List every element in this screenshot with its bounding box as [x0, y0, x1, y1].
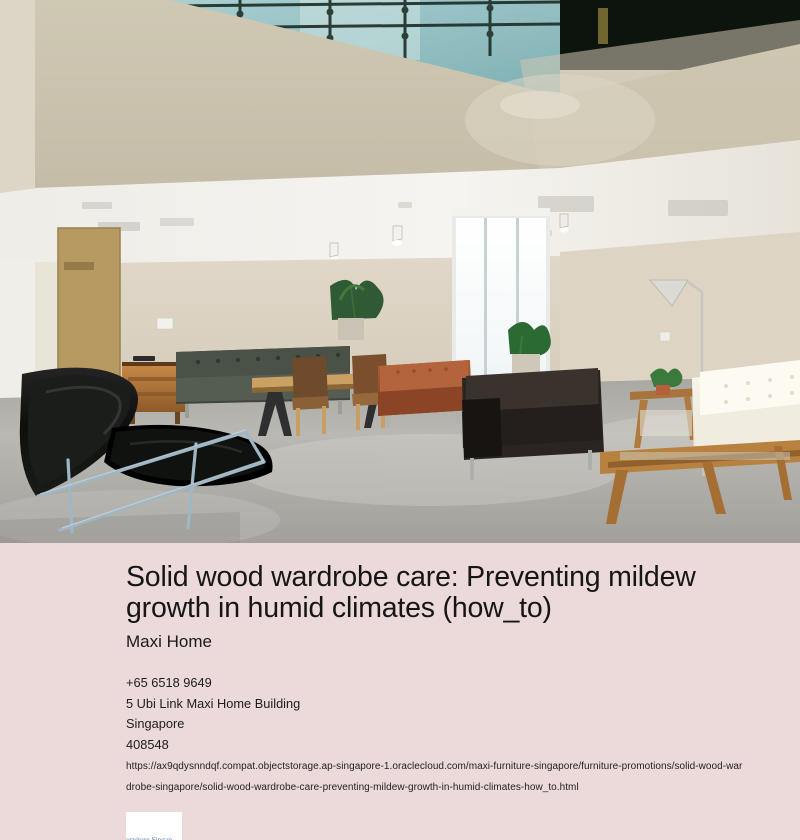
contact-country: Singapore	[126, 714, 766, 735]
footer-logo-text: Furniture Singap	[126, 835, 182, 840]
footer-logo[interactable]: Furniture Singap	[126, 812, 182, 840]
contact-phone: +65 6518 9649	[126, 673, 766, 694]
article-content: Solid wood wardrobe care: Preventing mil…	[0, 543, 800, 840]
page-title: Solid wood wardrobe care: Preventing mil…	[126, 562, 726, 624]
article-url[interactable]: https://ax9qdysnndqf.compat.objectstorag…	[126, 756, 800, 798]
showroom-illustration	[0, 0, 800, 543]
page-root: Solid wood wardrobe care: Preventing mil…	[0, 0, 800, 840]
hero-photo	[0, 0, 800, 543]
article-url-line-2[interactable]: drobe-singapore/solid-wood-wardrobe-care…	[126, 777, 800, 798]
contact-address: 5 Ubi Link Maxi Home Building	[126, 694, 766, 715]
contact-block: +65 6518 9649 5 Ubi Link Maxi Home Build…	[126, 673, 766, 755]
brand-name: Maxi Home	[126, 632, 212, 652]
article-url-line-1[interactable]: https://ax9qdysnndqf.compat.objectstorag…	[126, 756, 800, 777]
contact-postal: 408548	[126, 735, 766, 756]
